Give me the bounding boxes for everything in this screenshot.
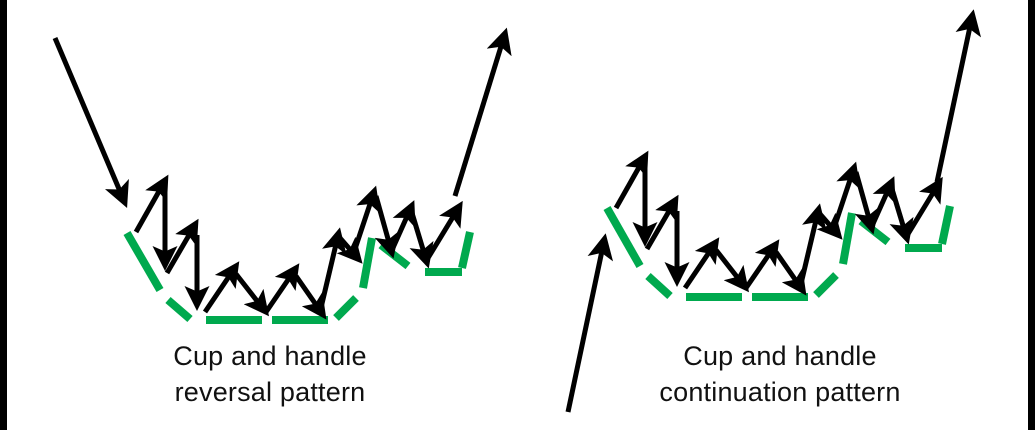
panel-reversal — [55, 38, 503, 320]
caption-continuation-line1: Cup and handle — [560, 338, 1000, 374]
caption-continuation-line2: continuation pattern — [560, 374, 1000, 410]
reversal-price-arrows — [136, 186, 456, 312]
reversal-entry-arrow — [55, 38, 122, 196]
continuation-price-arrows — [616, 162, 936, 288]
reversal-exit-arrow — [455, 40, 503, 196]
caption-reversal-pattern: Cup and handle reversal pattern — [60, 338, 480, 410]
continuation-exit-arrow — [937, 22, 971, 182]
caption-continuation-pattern: Cup and handle continuation pattern — [560, 338, 1000, 410]
figure-canvas: Cup and handle reversal pattern Cup and … — [0, 0, 1035, 430]
caption-reversal-line1: Cup and handle — [60, 338, 480, 374]
caption-reversal-line2: reversal pattern — [60, 374, 480, 410]
